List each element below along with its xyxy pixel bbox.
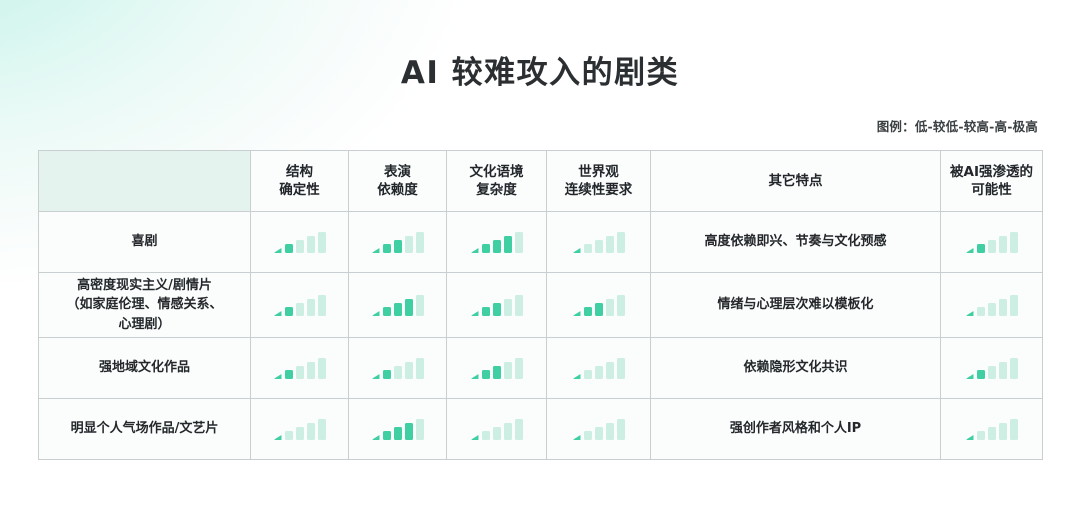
- bar-level-1: [471, 435, 479, 440]
- cell-cultural-context-complexity: [447, 399, 547, 460]
- header-line-1: 表演: [349, 163, 446, 181]
- bar-rating-cultural-context-complexity: [447, 418, 546, 440]
- bar-level-4: [504, 299, 512, 316]
- bar-level-5: [1010, 358, 1018, 379]
- bar-level-1: [274, 311, 282, 316]
- bar-level-2: [285, 431, 293, 440]
- bar-level-2: [383, 307, 391, 316]
- bar-rating-structure-certainty: [251, 357, 348, 379]
- cell-ai-penetration: [941, 212, 1043, 273]
- bar-level-2: [285, 244, 293, 253]
- bar-level-3: [988, 303, 996, 316]
- bar-rating-structure-certainty: [251, 418, 348, 440]
- bar-level-5: [617, 232, 625, 253]
- header-line-1: 其它特点: [651, 172, 940, 190]
- cell-ai-penetration: [941, 399, 1043, 460]
- bar-level-5: [1010, 295, 1018, 316]
- bar-rating-structure-certainty: [251, 294, 348, 316]
- bar-level-4: [999, 423, 1007, 440]
- bar-level-1: [372, 374, 380, 379]
- bar-rating-structure-certainty: [251, 231, 348, 253]
- bar-level-3: [988, 240, 996, 253]
- bar-level-1: [573, 311, 581, 316]
- bar-level-5: [318, 295, 326, 316]
- bar-level-5: [416, 419, 424, 440]
- bar-level-4: [606, 299, 614, 316]
- bar-level-3: [595, 303, 603, 316]
- cell-worldview-continuity: [547, 338, 651, 399]
- bar-level-4: [504, 236, 512, 253]
- bar-level-1: [966, 311, 974, 316]
- cell-cultural-context-complexity: [447, 212, 547, 273]
- bar-level-5: [617, 295, 625, 316]
- bar-level-5: [617, 358, 625, 379]
- bar-level-1: [372, 248, 380, 253]
- bar-rating-performance-dependence: [349, 357, 446, 379]
- bar-level-1: [966, 374, 974, 379]
- cell-structure-certainty: [251, 212, 349, 273]
- bar-level-4: [307, 362, 315, 379]
- bar-level-2: [383, 431, 391, 440]
- bar-level-5: [318, 419, 326, 440]
- bar-level-3: [493, 240, 501, 253]
- bar-level-2: [482, 431, 490, 440]
- bar-level-1: [471, 311, 479, 316]
- table-row: 明显个人气场作品/文艺片: [39, 399, 1043, 460]
- bar-level-2: [383, 244, 391, 253]
- bar-level-2: [482, 370, 490, 379]
- bar-rating-ai-penetration: [941, 357, 1042, 379]
- header-line-1: 被AI强渗透的: [941, 163, 1042, 181]
- bar-level-2: [482, 244, 490, 253]
- bar-level-5: [318, 232, 326, 253]
- bar-level-3: [296, 366, 304, 379]
- bar-level-4: [405, 423, 413, 440]
- bar-level-5: [416, 232, 424, 253]
- bar-level-4: [405, 299, 413, 316]
- bar-rating-worldview-continuity: [547, 294, 650, 316]
- bar-rating-performance-dependence: [349, 231, 446, 253]
- header-line-1: 结构: [251, 163, 348, 181]
- bar-level-5: [1010, 419, 1018, 440]
- bar-rating-cultural-context-complexity: [447, 357, 546, 379]
- cell-ai-penetration: [941, 273, 1043, 338]
- bar-level-2: [977, 307, 985, 316]
- bar-level-3: [394, 366, 402, 379]
- bar-level-4: [307, 299, 315, 316]
- bar-level-4: [504, 362, 512, 379]
- bar-level-3: [595, 427, 603, 440]
- bar-level-4: [999, 236, 1007, 253]
- bar-level-4: [307, 423, 315, 440]
- cell-performance-dependence: [349, 338, 447, 399]
- bar-level-3: [595, 366, 603, 379]
- page-title: AI 较难攻入的剧类: [0, 47, 1080, 92]
- bar-level-1: [573, 374, 581, 379]
- bar-level-3: [394, 427, 402, 440]
- bar-level-3: [394, 303, 402, 316]
- header-cell-cultural-context-complexity: 文化语境 复杂度: [447, 151, 547, 212]
- bar-level-4: [999, 362, 1007, 379]
- row-label-genre: 喜剧: [39, 212, 251, 273]
- bar-level-1: [966, 435, 974, 440]
- cell-other-features: 依赖隐形文化共识: [651, 338, 941, 399]
- bar-level-2: [285, 370, 293, 379]
- table-body: 喜剧: [39, 212, 1043, 460]
- bar-level-3: [493, 427, 501, 440]
- bar-level-2: [383, 370, 391, 379]
- row-label-line: 喜剧: [39, 232, 250, 252]
- row-label-line: 强地域文化作品: [39, 358, 250, 378]
- slide-canvas: AI 较难攻入的剧类 图例：低-较低-较高-高-极高 结构 确定性: [0, 0, 1080, 530]
- bar-level-4: [405, 236, 413, 253]
- bar-level-2: [584, 307, 592, 316]
- bar-level-2: [584, 370, 592, 379]
- cell-other-features: 高度依赖即兴、节奏与文化预感: [651, 212, 941, 273]
- bar-level-4: [307, 236, 315, 253]
- cell-other-features: 情绪与心理层次难以模板化: [651, 273, 941, 338]
- table-header: 结构 确定性 表演 依赖度 文化语境 复杂度 世界观 连续性要求: [39, 151, 1043, 212]
- bar-level-1: [372, 311, 380, 316]
- bar-level-2: [584, 244, 592, 253]
- bar-level-5: [617, 419, 625, 440]
- header-line-2: 确定性: [251, 181, 348, 199]
- bar-level-1: [274, 248, 282, 253]
- row-label-genre: 明显个人气场作品/文艺片: [39, 399, 251, 460]
- cell-performance-dependence: [349, 399, 447, 460]
- cell-other-features: 强创作者风格和个人IP: [651, 399, 941, 460]
- bar-level-4: [606, 362, 614, 379]
- header-cell-performance-dependence: 表演 依赖度: [349, 151, 447, 212]
- cell-worldview-continuity: [547, 273, 651, 338]
- header-line-2: 复杂度: [447, 181, 546, 199]
- bar-level-2: [977, 431, 985, 440]
- header-cell-ai-penetration: 被AI强渗透的 可能性: [941, 151, 1043, 212]
- bar-level-2: [977, 370, 985, 379]
- table-row: 高密度现实主义/剧情片 （如家庭伦理、情感关系、 心理剧）: [39, 273, 1043, 338]
- bar-rating-ai-penetration: [941, 231, 1042, 253]
- bar-level-3: [988, 366, 996, 379]
- cell-structure-certainty: [251, 399, 349, 460]
- row-label-line: 心理剧）: [39, 315, 250, 335]
- bar-level-3: [493, 366, 501, 379]
- bar-level-3: [296, 427, 304, 440]
- row-label-line: 明显个人气场作品/文艺片: [39, 419, 250, 439]
- legend-label: 图例：低-较低-较高-高-极高: [877, 116, 1038, 135]
- bar-level-3: [493, 303, 501, 316]
- bar-rating-worldview-continuity: [547, 231, 650, 253]
- bar-level-1: [471, 248, 479, 253]
- bar-level-4: [999, 299, 1007, 316]
- bar-rating-worldview-continuity: [547, 418, 650, 440]
- bar-level-4: [606, 236, 614, 253]
- bar-level-1: [274, 374, 282, 379]
- bar-level-3: [296, 303, 304, 316]
- header-cell-worldview-continuity: 世界观 连续性要求: [547, 151, 651, 212]
- bar-rating-cultural-context-complexity: [447, 231, 546, 253]
- bar-level-1: [966, 248, 974, 253]
- bar-rating-cultural-context-complexity: [447, 294, 546, 316]
- bar-level-1: [471, 374, 479, 379]
- cell-cultural-context-complexity: [447, 273, 547, 338]
- bar-level-1: [372, 435, 380, 440]
- bar-level-1: [274, 435, 282, 440]
- bar-rating-ai-penetration: [941, 294, 1042, 316]
- bar-level-3: [394, 240, 402, 253]
- bar-level-4: [606, 423, 614, 440]
- cell-worldview-continuity: [547, 212, 651, 273]
- cell-ai-penetration: [941, 338, 1043, 399]
- bar-level-3: [988, 427, 996, 440]
- bar-level-2: [584, 431, 592, 440]
- cell-structure-certainty: [251, 273, 349, 338]
- cell-performance-dependence: [349, 212, 447, 273]
- row-label-line: （如家庭伦理、情感关系、: [39, 295, 250, 315]
- bar-level-5: [515, 419, 523, 440]
- bar-level-1: [573, 248, 581, 253]
- row-label-line: 高密度现实主义/剧情片: [39, 276, 250, 296]
- bar-level-2: [977, 244, 985, 253]
- bar-level-3: [595, 240, 603, 253]
- bar-level-5: [318, 358, 326, 379]
- header-row: 结构 确定性 表演 依赖度 文化语境 复杂度 世界观 连续性要求: [39, 151, 1043, 212]
- bar-rating-performance-dependence: [349, 294, 446, 316]
- header-line-2: 可能性: [941, 181, 1042, 199]
- header-line-2: 连续性要求: [547, 181, 650, 199]
- bar-level-4: [405, 362, 413, 379]
- bar-level-5: [515, 232, 523, 253]
- header-cell-other-features: 其它特点: [651, 151, 941, 212]
- bar-level-5: [515, 295, 523, 316]
- bar-level-5: [416, 295, 424, 316]
- bar-level-5: [416, 358, 424, 379]
- bar-level-2: [482, 307, 490, 316]
- bar-rating-performance-dependence: [349, 418, 446, 440]
- bar-level-5: [515, 358, 523, 379]
- cell-worldview-continuity: [547, 399, 651, 460]
- header-line-1: 文化语境: [447, 163, 546, 181]
- bar-rating-ai-penetration: [941, 418, 1042, 440]
- row-label-genre: 高密度现实主义/剧情片 （如家庭伦理、情感关系、 心理剧）: [39, 273, 251, 338]
- bar-level-2: [285, 307, 293, 316]
- bar-level-1: [573, 435, 581, 440]
- header-cell-structure-certainty: 结构 确定性: [251, 151, 349, 212]
- header-line-1: 世界观: [547, 163, 650, 181]
- bar-level-4: [504, 423, 512, 440]
- table-row: 强地域文化作品: [39, 338, 1043, 399]
- bar-level-3: [296, 240, 304, 253]
- row-label-genre: 强地域文化作品: [39, 338, 251, 399]
- comparison-table-container: 结构 确定性 表演 依赖度 文化语境 复杂度 世界观 连续性要求: [38, 150, 1042, 460]
- bar-level-5: [1010, 232, 1018, 253]
- cell-performance-dependence: [349, 273, 447, 338]
- table-row: 喜剧: [39, 212, 1043, 273]
- cell-cultural-context-complexity: [447, 338, 547, 399]
- header-cell-blank: [39, 151, 251, 212]
- cell-structure-certainty: [251, 338, 349, 399]
- comparison-table: 结构 确定性 表演 依赖度 文化语境 复杂度 世界观 连续性要求: [38, 150, 1043, 460]
- bar-rating-worldview-continuity: [547, 357, 650, 379]
- header-line-2: 依赖度: [349, 181, 446, 199]
